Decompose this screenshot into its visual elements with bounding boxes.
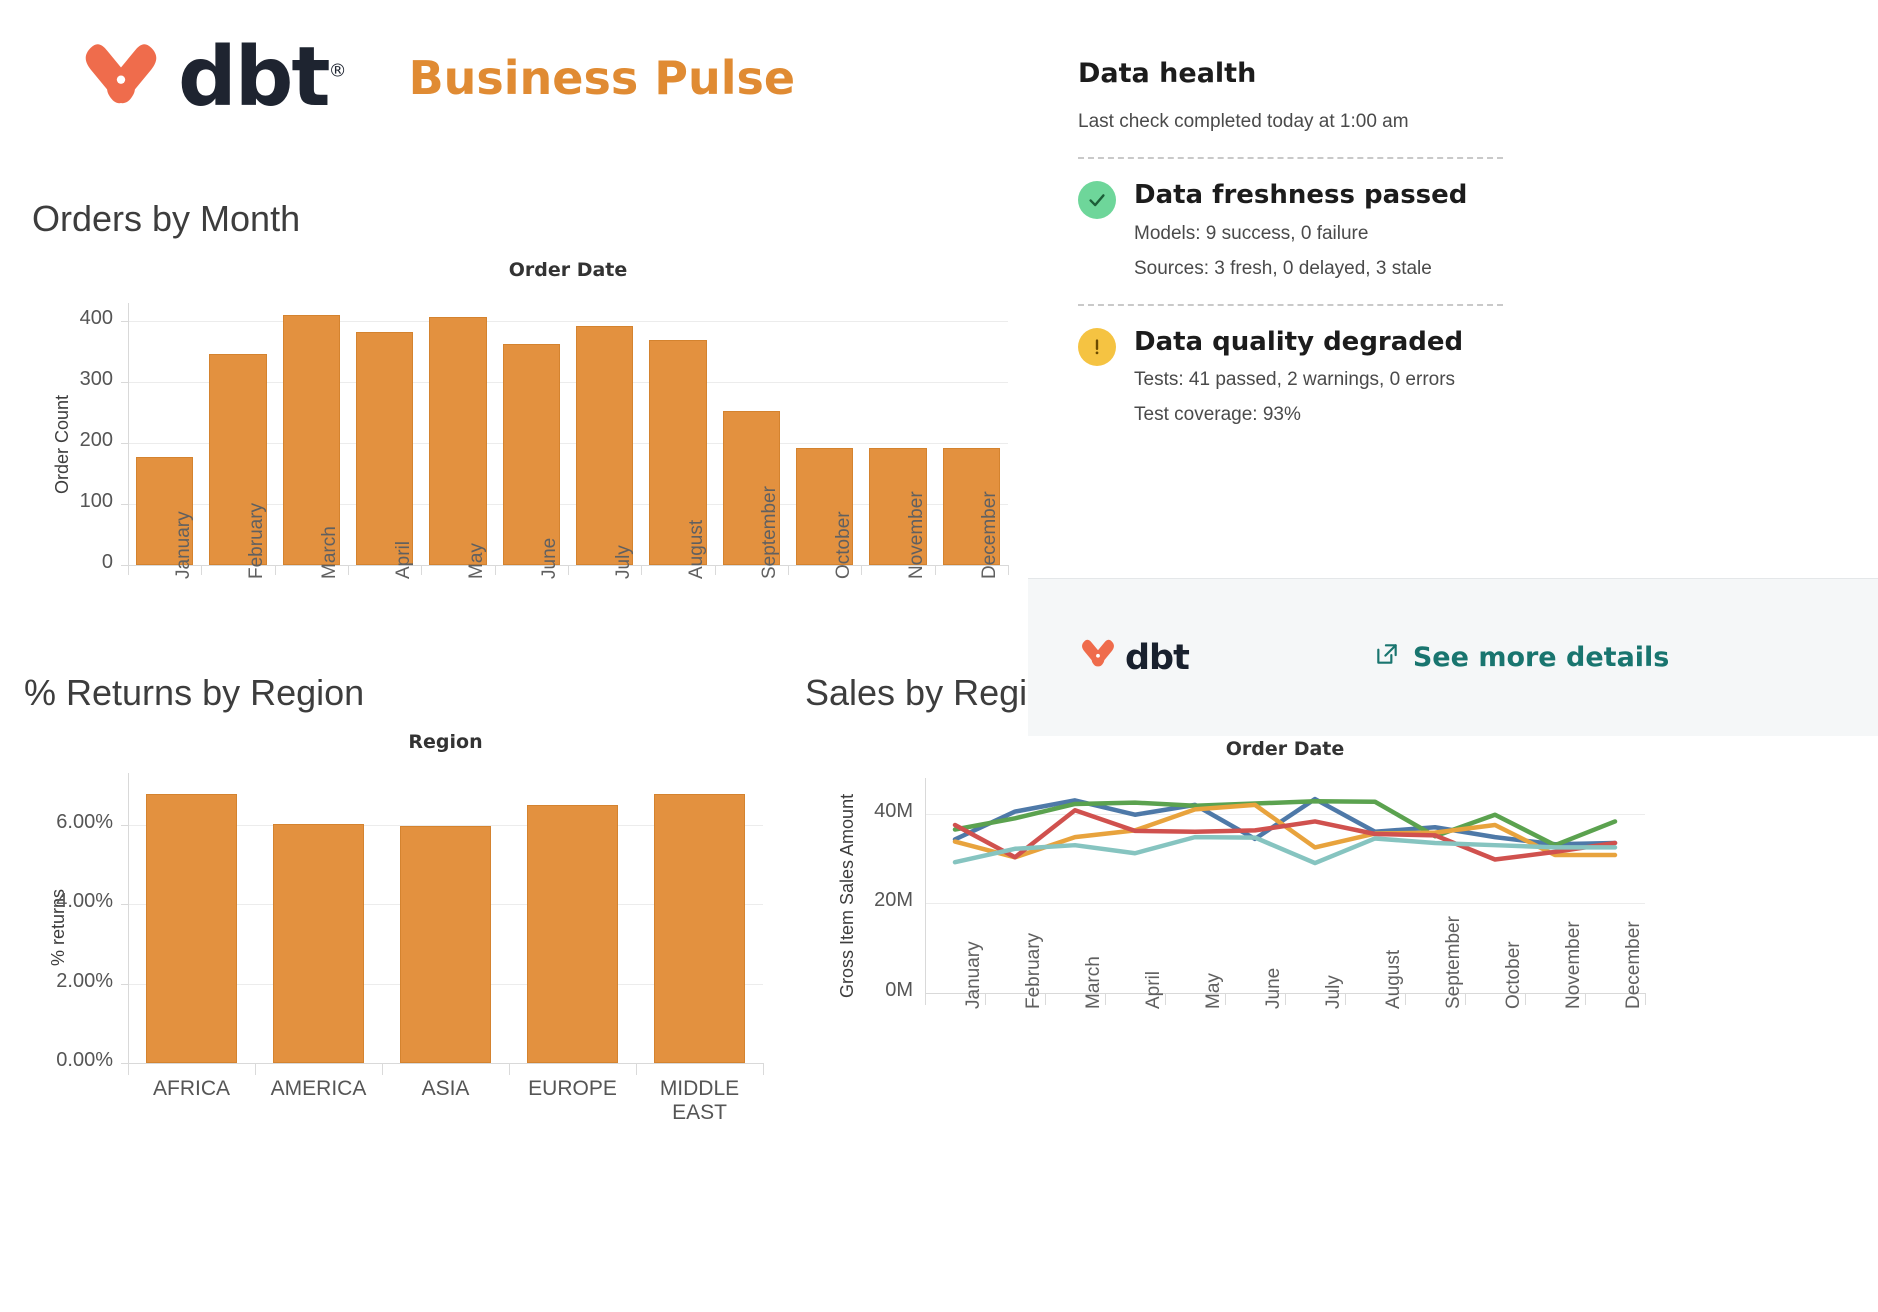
see-more-details-link[interactable]: See more details	[1374, 641, 1670, 674]
x-axis-category-label: December	[979, 491, 1001, 579]
sales-by-region-chart: Order Date Gross Item Sales Amount 0M20M…	[805, 730, 1878, 1130]
data-health-heading: Data health	[1078, 58, 1878, 89]
data-quality-coverage: Test coverage: 93%	[1134, 404, 1463, 426]
y-axis-tick-mark	[121, 565, 128, 566]
x-axis-month-label: January	[963, 941, 985, 1009]
x-axis-month-label: November	[1563, 921, 1585, 1009]
x-axis-month-label: October	[1503, 941, 1525, 1009]
x-axis-tick-mark	[1645, 993, 1646, 1005]
warning-circle-icon	[1078, 328, 1116, 366]
page-title: Business Pulse	[409, 51, 796, 105]
data-quality-title: Data quality degraded	[1134, 328, 1463, 357]
x-axis-category-label: August	[686, 520, 708, 579]
dbt-wordmark-small: dbt	[1125, 638, 1189, 678]
dbt-brand-mini: dbt	[1078, 636, 1189, 679]
x-axis-line	[128, 1063, 763, 1064]
x-axis-tick-mark	[275, 565, 276, 575]
bar	[400, 826, 490, 1063]
x-axis-category-label: May	[466, 543, 488, 579]
y-axis-tick-mark	[121, 825, 128, 826]
x-axis-tick-mark	[1345, 993, 1346, 1005]
x-axis-tick-mark	[935, 565, 936, 575]
x-axis-tick-mark	[1045, 993, 1046, 1005]
y-axis-tick-mark	[121, 984, 128, 985]
x-axis-tick-mark	[1285, 993, 1286, 1005]
x-axis-category-label: February	[246, 503, 268, 579]
y-axis-tick-label: 300	[33, 368, 113, 391]
x-axis-category-label: AFRICA	[128, 1077, 255, 1101]
x-axis-category-label: ASIA	[382, 1077, 509, 1101]
x-axis-tick-mark	[509, 1063, 510, 1075]
x-axis-tick-mark	[985, 993, 986, 1005]
data-quality-row: Data quality degraded Tests: 41 passed, …	[1078, 328, 1878, 427]
bar	[654, 794, 744, 1063]
x-axis-tick-mark	[348, 565, 349, 575]
x-axis-tick-mark	[763, 1063, 764, 1075]
x-axis-category-label: AMERICA	[255, 1077, 382, 1101]
x-axis-month-label: March	[1083, 956, 1105, 1009]
x-axis-tick-mark	[1525, 993, 1526, 1005]
x-axis-tick-mark	[1008, 565, 1009, 575]
orders-section-title: Orders by Month	[32, 198, 300, 240]
last-check-text: Last check completed today at 1:00 am	[1078, 111, 1878, 133]
y-axis-line	[128, 773, 129, 1063]
x-axis-month-label: June	[1263, 968, 1285, 1009]
y-axis-tick-label: 0	[33, 551, 113, 574]
x-axis-category-label: EUROPE	[509, 1077, 636, 1101]
x-axis-category-label: September	[759, 486, 781, 579]
x-axis-month-label: September	[1443, 916, 1465, 1009]
x-axis-tick-mark	[1585, 993, 1586, 1005]
y-axis-line	[128, 303, 129, 565]
x-axis-category-label: April	[393, 541, 415, 579]
x-axis-category-label: July	[613, 545, 635, 579]
x-axis-month-label: December	[1623, 921, 1645, 1009]
dbt-x-logo-icon	[78, 36, 164, 120]
data-freshness-sources: Sources: 3 fresh, 0 delayed, 3 stale	[1134, 258, 1467, 280]
y-axis-tick-label: 200	[33, 429, 113, 452]
x-axis-tick-mark	[495, 565, 496, 575]
y-axis-tick-label: 6.00%	[33, 811, 113, 834]
x-axis-month-label: February	[1023, 933, 1045, 1009]
x-axis-tick-mark	[636, 1063, 637, 1075]
dbt-brand: dbt®	[78, 36, 345, 120]
returns-chart-caption: Region	[128, 731, 763, 753]
returns-by-region-chart: Region % returns 0.00%2.00%4.00%6.00%AFR…	[0, 725, 800, 1115]
dbt-x-logo-icon-small	[1078, 636, 1118, 679]
x-axis-category-label: October	[833, 511, 855, 579]
bar	[273, 824, 363, 1063]
x-axis-tick-mark	[788, 565, 789, 575]
gridline	[128, 321, 1008, 322]
orders-by-month-chart: Order Date Order Count 0100200300400Janu…	[0, 255, 1020, 625]
x-axis-category-label: MIDDLE EAST	[636, 1077, 763, 1125]
y-axis-tick-mark	[121, 321, 128, 322]
y-axis-tick-label: 2.00%	[33, 970, 113, 993]
x-axis-tick-mark	[925, 993, 926, 1005]
x-axis-tick-mark	[201, 565, 202, 575]
y-axis-tick-label: 100	[33, 490, 113, 513]
data-freshness-row: Data freshness passed Models: 9 success,…	[1078, 181, 1878, 280]
bar	[356, 332, 413, 565]
x-axis-category-label: November	[906, 491, 928, 579]
y-axis-tick-label: 400	[33, 307, 113, 330]
x-axis-category-label: January	[173, 511, 195, 579]
y-axis-tick-mark	[121, 1063, 128, 1064]
y-axis-tick-mark	[121, 382, 128, 383]
orders-chart-caption: Order Date	[128, 259, 1008, 281]
data-quality-tests: Tests: 41 passed, 2 warnings, 0 errors	[1134, 369, 1463, 391]
see-more-details-label: See more details	[1413, 642, 1670, 673]
check-circle-icon	[1078, 181, 1116, 219]
x-axis-tick-mark	[1165, 993, 1166, 1005]
x-axis-month-label: August	[1383, 950, 1405, 1009]
bar	[503, 344, 560, 565]
y-axis-tick-label: 0.00%	[33, 1049, 113, 1072]
dashboard-header: dbt® Business Pulse	[78, 36, 795, 120]
x-axis-category-label: March	[319, 526, 341, 579]
x-axis-tick-mark	[128, 565, 129, 575]
y-axis-tick-mark	[121, 504, 128, 505]
x-axis-month-label: April	[1143, 971, 1165, 1009]
x-axis-tick-mark	[1105, 993, 1106, 1005]
y-axis-tick-label: 4.00%	[33, 890, 113, 913]
x-axis-tick-mark	[1465, 993, 1466, 1005]
x-axis-tick-mark	[255, 1063, 256, 1075]
divider-2	[1078, 304, 1503, 306]
x-axis-tick-mark	[128, 1063, 129, 1075]
dashboard-page: dbt® Business Pulse Orders by Month % Re…	[0, 0, 1878, 1312]
x-axis-tick-mark	[1225, 993, 1226, 1005]
x-axis-tick-mark	[641, 565, 642, 575]
y-axis-tick-mark	[121, 443, 128, 444]
x-axis-tick-mark	[715, 565, 716, 575]
external-link-icon	[1374, 641, 1400, 674]
bar	[527, 805, 617, 1063]
x-axis-month-label: July	[1323, 975, 1345, 1009]
sales-lines-svg	[805, 730, 1878, 1130]
bar	[429, 317, 486, 565]
data-health-panel: Data health Last check completed today a…	[1078, 58, 1878, 426]
bar	[146, 794, 236, 1063]
data-freshness-title: Data freshness passed	[1134, 181, 1467, 210]
x-axis-tick-mark	[861, 565, 862, 575]
data-freshness-models: Models: 9 success, 0 failure	[1134, 223, 1467, 245]
see-more-details-card: dbt See more details	[1028, 578, 1878, 736]
x-axis-tick-mark	[382, 1063, 383, 1075]
x-axis-month-label: May	[1203, 973, 1225, 1009]
bar	[576, 326, 633, 565]
x-axis-tick-mark	[421, 565, 422, 575]
y-axis-tick-mark	[121, 904, 128, 905]
x-axis-category-label: June	[539, 538, 561, 579]
x-axis-tick-mark	[1405, 993, 1406, 1005]
dbt-wordmark: dbt®	[178, 37, 345, 119]
x-axis-tick-mark	[568, 565, 569, 575]
divider-1	[1078, 157, 1503, 159]
returns-section-title: % Returns by Region	[24, 672, 364, 714]
